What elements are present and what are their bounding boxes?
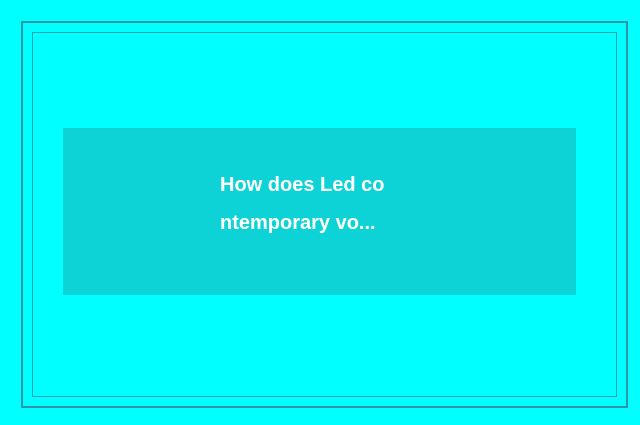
- content-panel: How does Led co ntemporary vo...: [63, 128, 576, 295]
- title-text-block: How does Led co ntemporary vo...: [220, 166, 450, 242]
- title-line-1: How does Led co: [220, 166, 450, 204]
- title-line-2: ntemporary vo...: [220, 204, 450, 242]
- card-canvas: How does Led co ntemporary vo...: [0, 0, 640, 425]
